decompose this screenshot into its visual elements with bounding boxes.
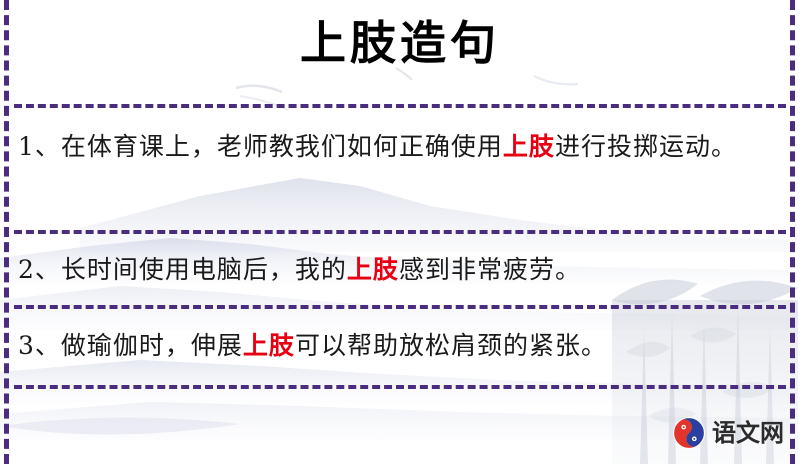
sentence-number: 3、	[18, 331, 61, 360]
keyword-highlight: 上肢	[243, 331, 295, 360]
site-logo: 语文网	[672, 416, 784, 450]
divider-4	[14, 385, 786, 389]
sentence-text-after: 感到非常疲劳。	[399, 255, 581, 284]
right-dashed-rail	[790, 0, 795, 464]
keyword-highlight: 上肢	[347, 255, 399, 284]
sentence-text-before: 在体育课上，老师教我们如何正确使用	[61, 132, 503, 161]
slide-canvas: 上肢造句 1、在体育课上，老师教我们如何正确使用上肢进行投掷运动。 2、长时间使…	[0, 0, 800, 464]
left-dashed-rail	[4, 0, 9, 464]
keyword-highlight: 上肢	[503, 132, 555, 161]
sentence-item: 3、做瑜伽时，伸展上肢可以帮助放松肩颈的紧张。	[18, 323, 780, 369]
sentence-text-before: 长时间使用电脑后，我的	[61, 255, 347, 284]
logo-text: 语文网	[712, 421, 784, 445]
sentence-number: 2、	[18, 255, 61, 284]
sentence-text-after: 进行投掷运动。	[555, 132, 737, 161]
divider-3	[14, 305, 786, 309]
divider-1	[14, 104, 786, 108]
yinyang-circle-icon	[672, 416, 706, 450]
sentence-text-before: 做瑜伽时，伸展	[61, 331, 243, 360]
sentence-text-after: 可以帮助放松肩颈的紧张。	[295, 331, 607, 360]
sentence-item: 2、长时间使用电脑后，我的上肢感到非常疲劳。	[18, 247, 780, 293]
divider-2	[14, 230, 786, 234]
page-title: 上肢造句	[300, 18, 500, 69]
sentence-number: 1、	[18, 132, 61, 161]
title-container: 上肢造句	[0, 18, 800, 69]
sentence-item: 1、在体育课上，老师教我们如何正确使用上肢进行投掷运动。	[18, 124, 780, 170]
